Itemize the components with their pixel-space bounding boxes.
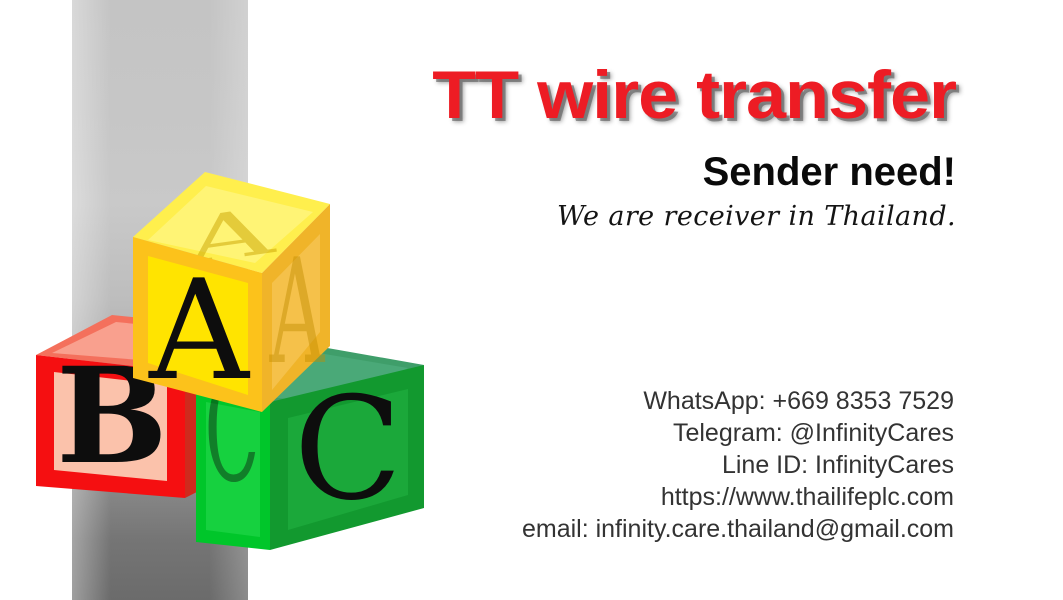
contact-line-email[interactable]: email: infinity.care.thailand@gmail.com (380, 513, 954, 545)
subtitle: Sender need! (420, 152, 956, 192)
tagline: We are receiver in Thailand. (420, 203, 956, 230)
business-card-canvas: B C C (0, 0, 1063, 600)
contact-block: WhatsApp: +669 8353 7529 Telegram: @Infi… (380, 385, 954, 545)
block-a-yellow: A A A (133, 172, 330, 412)
contact-line-whatsapp: WhatsApp: +669 8353 7529 (380, 385, 954, 417)
contact-line-telegram: Telegram: @InfinityCares (380, 417, 954, 449)
contact-line-website[interactable]: https://www.thailifeplc.com (380, 481, 954, 513)
block-letter-a-side: A (269, 229, 325, 397)
block-letter-a: A (148, 250, 250, 411)
contact-line-line-id: Line ID: InfinityCares (380, 449, 954, 481)
page-title: TT wire transfer (239, 61, 956, 129)
